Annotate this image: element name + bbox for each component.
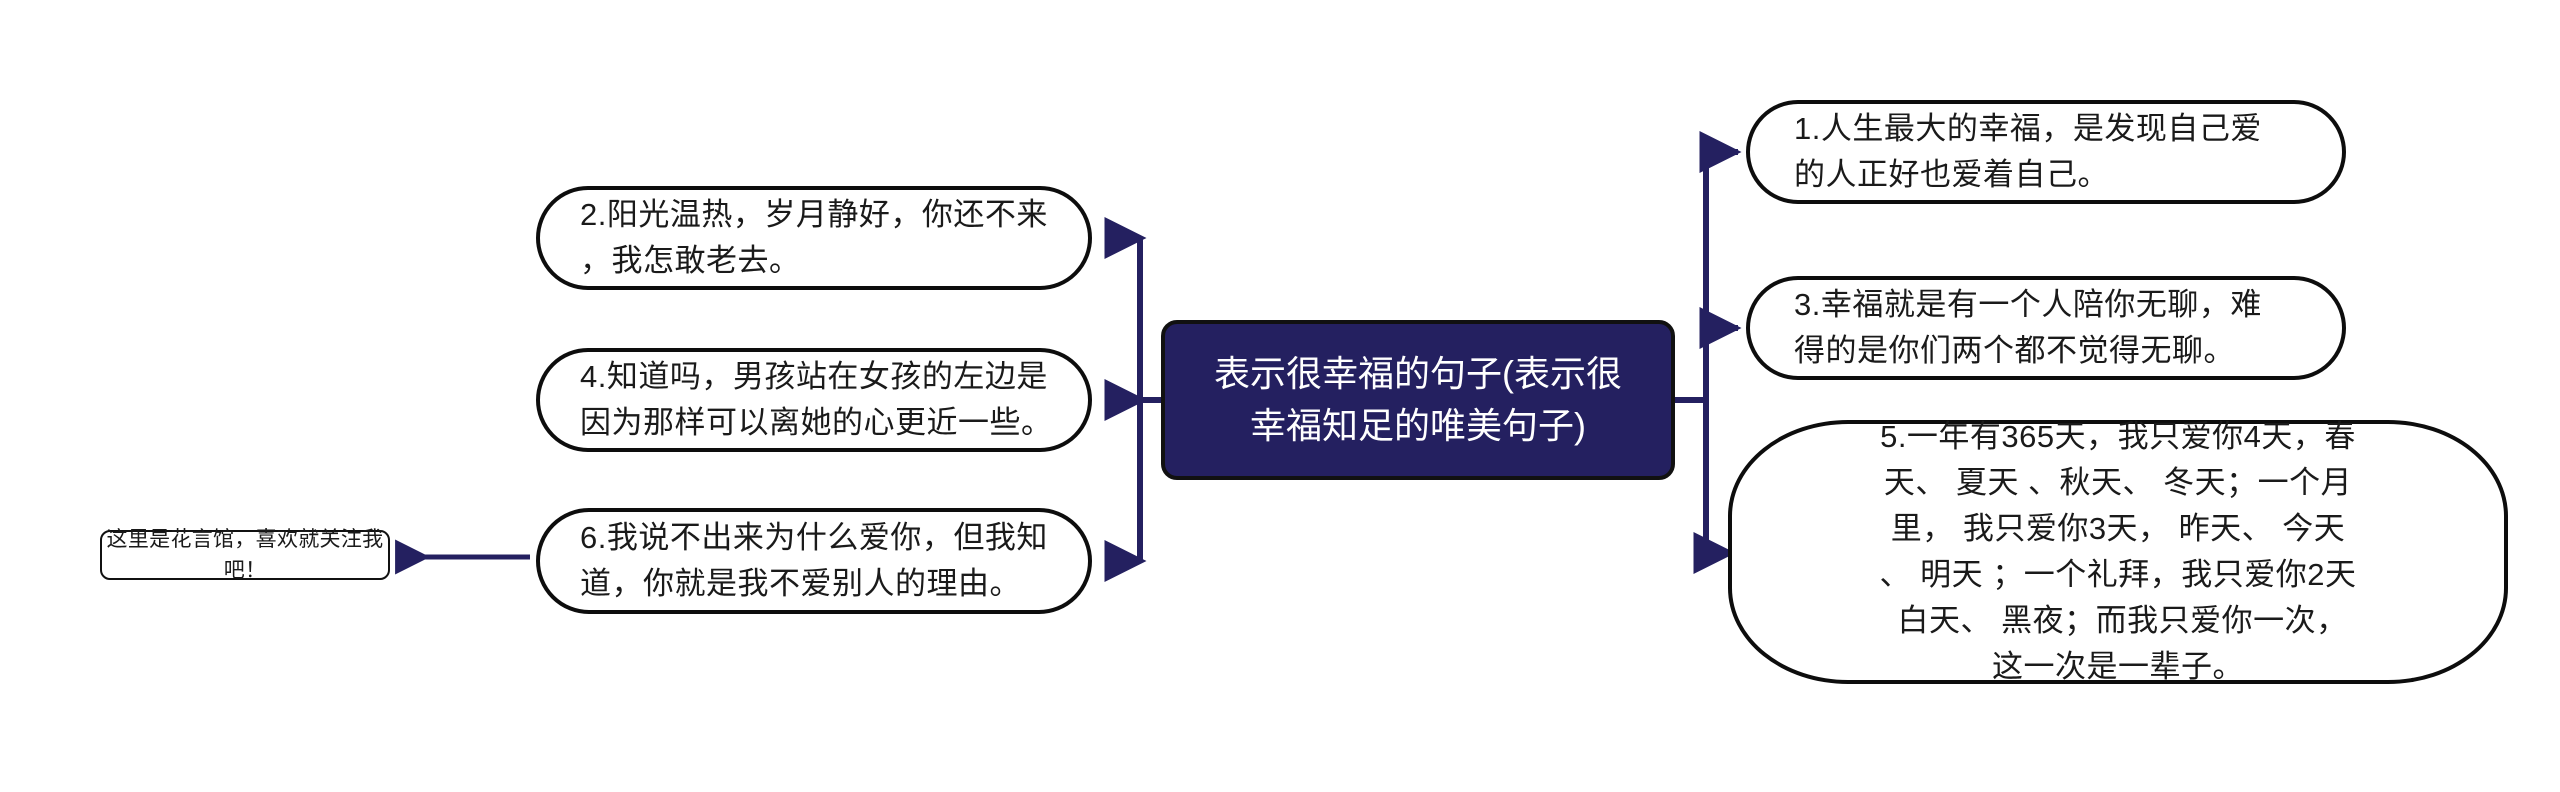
branch-node-2[interactable]: 2.阳光温热，岁月静好，你还不来 ，我怎敢老去。 [536,186,1092,290]
branch-node-6-label: 6.我说不出来为什么爱你，但我知 道，你就是我不爱别人的理由。 [580,515,1054,608]
branch-node-4-label: 4.知道吗，男孩站在女孩的左边是 因为那样可以离她的心更近一些。 [580,354,1054,447]
branch-node-5-label: 5.一年有365天，我只爱你4天，春 天、 夏天 、秋天、 冬天；一个月 里， … [1778,414,2458,689]
branch-node-5[interactable]: 5.一年有365天，我只爱你4天，春 天、 夏天 、秋天、 冬天；一个月 里， … [1728,420,2508,684]
branch-node-3[interactable]: 3.幸福就是有一个人陪你无聊，难 得的是你们两个都不觉得无聊。 [1746,276,2346,380]
branch-node-1-label: 1.人生最大的幸福，是发现自己爱 的人正好也爱着自己。 [1794,106,2308,199]
root-node[interactable]: 表示很幸福的句子(表示很 幸福知足的唯美句子) [1161,320,1675,480]
left-connectors [1108,238,1161,561]
mindmap-canvas: 表示很幸福的句子(表示很 幸福知足的唯美句子) 2.阳光温热，岁月静好，你还不来… [0,0,2560,792]
branch-node-1[interactable]: 1.人生最大的幸福，是发现自己爱 的人正好也爱着自己。 [1746,100,2346,204]
branch-node-2-label: 2.阳光温热，岁月静好，你还不来 ，我怎敢老去。 [580,192,1054,285]
watermark-label: 这里是花言馆，喜欢就关注我吧！ [102,524,388,587]
right-connectors [1675,152,1738,553]
branch-node-6[interactable]: 6.我说不出来为什么爱你，但我知 道，你就是我不爱别人的理由。 [536,508,1092,614]
watermark-badge: 这里是花言馆，喜欢就关注我吧！ [100,530,390,580]
branch-node-3-label: 3.幸福就是有一个人陪你无聊，难 得的是你们两个都不觉得无聊。 [1794,282,2308,375]
root-node-label: 表示很幸福的句子(表示很 幸福知足的唯美句子) [1189,348,1647,452]
branch-node-4[interactable]: 4.知道吗，男孩站在女孩的左边是 因为那样可以离她的心更近一些。 [536,348,1092,452]
